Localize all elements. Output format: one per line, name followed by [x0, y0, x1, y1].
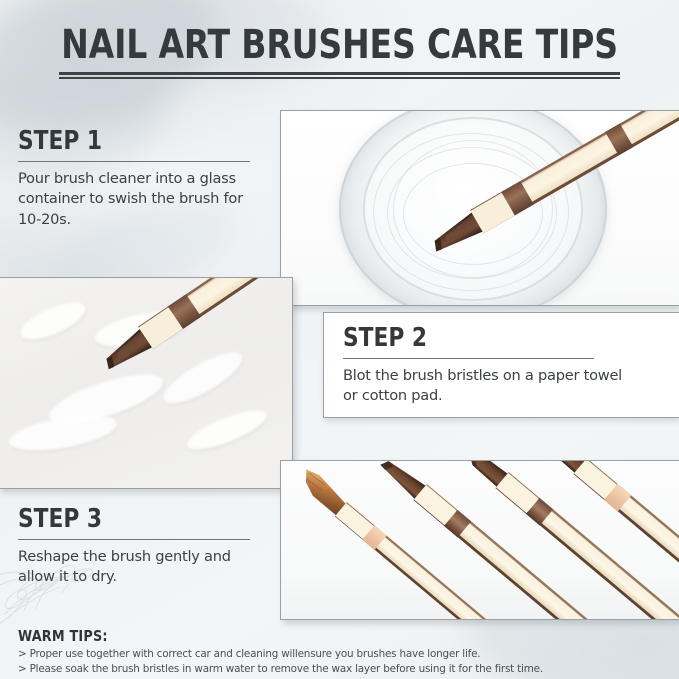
photo-four-brushes — [280, 460, 679, 620]
flat-brush-in-glass — [281, 111, 679, 306]
warm-tip-line: > Please soak the brush bristles in warm… — [18, 662, 658, 677]
step-1-body: Pour brush cleaner into a glass containe… — [18, 169, 268, 229]
step-2-card: STEP 2 Blot the brush bristles on a pape… — [343, 325, 623, 407]
step-2-rule — [343, 358, 594, 359]
step-3-rule — [18, 539, 250, 540]
page-title: NAIL ART BRUSHES CARE TIPS — [27, 25, 652, 65]
infographic-page: NAIL ART BRUSHES CARE TIPS — [0, 0, 679, 679]
brush-set-illustration — [281, 461, 679, 620]
title-underline — [59, 72, 620, 79]
step-1-title: STEP 1 — [18, 128, 251, 155]
step-3-body: Reshape the brush gently and allow it to… — [18, 547, 268, 587]
photo-brush-on-paper-towel — [0, 277, 293, 489]
step-3-title: STEP 3 — [18, 506, 251, 533]
step-2-body: Blot the brush bristles on a paper towel… — [343, 366, 623, 406]
warm-tip-line: > Proper use together with correct car a… — [18, 647, 658, 662]
brush-oval — [465, 461, 679, 620]
step-2-title: STEP 2 — [343, 325, 603, 352]
warm-tips-section: WARM TIPS: > Proper use together with co… — [18, 627, 658, 677]
step-1-card: STEP 1 Pour brush cleaner into a glass c… — [18, 128, 268, 230]
step-1-rule — [18, 161, 250, 162]
header: NAIL ART BRUSHES CARE TIPS — [0, 0, 679, 104]
photo-glass-container-with-brush — [280, 110, 679, 306]
warm-tips-title: WARM TIPS: — [18, 627, 607, 645]
step-3-card: STEP 3 Reshape the brush gently and allo… — [18, 506, 268, 588]
flat-brush-blotting — [0, 278, 293, 489]
